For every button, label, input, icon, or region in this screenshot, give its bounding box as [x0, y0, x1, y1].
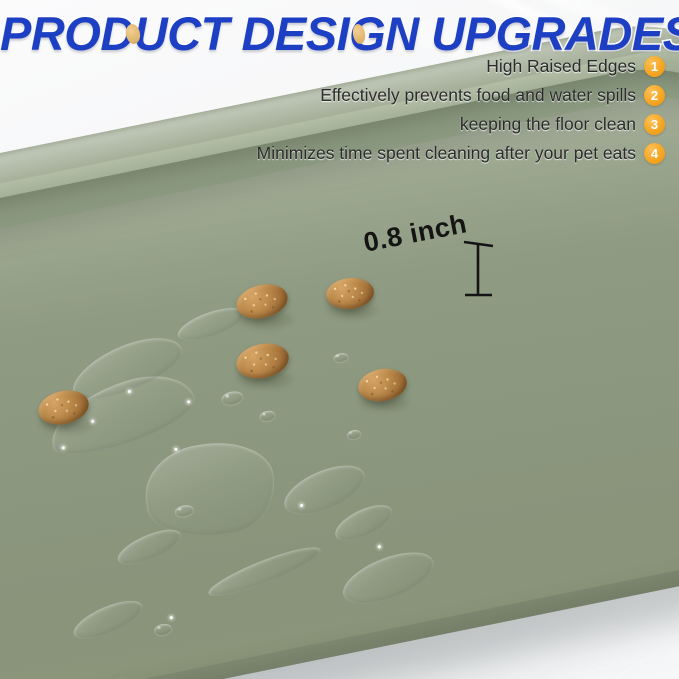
- feature-number-badge: 2: [644, 85, 665, 106]
- page-title: PRODUCT DESIGN UPGRADES: [0, 6, 679, 61]
- water-droplet: [153, 622, 173, 636]
- feature-number-badge: 4: [644, 143, 665, 164]
- feature-label: High Raised Edges: [486, 56, 636, 77]
- water-specular-highlight: [170, 616, 174, 620]
- water-puddle: [330, 498, 397, 548]
- feature-item-1: High Raised Edges 1: [105, 54, 665, 78]
- feature-item-2: Effectively prevents food and water spil…: [105, 83, 665, 107]
- feature-label: Effectively prevents food and water spil…: [320, 85, 636, 106]
- feature-list: High Raised Edges 1 Effectively prevents…: [105, 54, 665, 170]
- water-puddle: [205, 539, 325, 603]
- water-droplet: [333, 352, 349, 364]
- feature-label: keeping the floor clean: [460, 114, 636, 135]
- water-droplet: [259, 409, 277, 422]
- feature-item-3: keeping the floor clean 3: [105, 112, 665, 136]
- height-dimension-bracket: [462, 238, 496, 300]
- water-droplet: [220, 390, 244, 407]
- feature-item-4: Minimizes time spent cleaning after your…: [105, 141, 665, 165]
- product-marketing-image: 0.8 inch PRODUCT DESIGN UPGRADES High Ra…: [0, 0, 679, 679]
- water-puddle: [113, 523, 185, 572]
- water-droplet: [346, 429, 362, 441]
- feature-number-badge: 3: [644, 114, 665, 135]
- water-puddle: [69, 593, 147, 646]
- feature-label: Minimizes time spent cleaning after your…: [257, 143, 636, 164]
- water-puddle: [336, 542, 440, 614]
- water-puddle: [140, 436, 281, 544]
- water-specular-highlight: [378, 545, 382, 549]
- feature-number-badge: 1: [644, 56, 665, 77]
